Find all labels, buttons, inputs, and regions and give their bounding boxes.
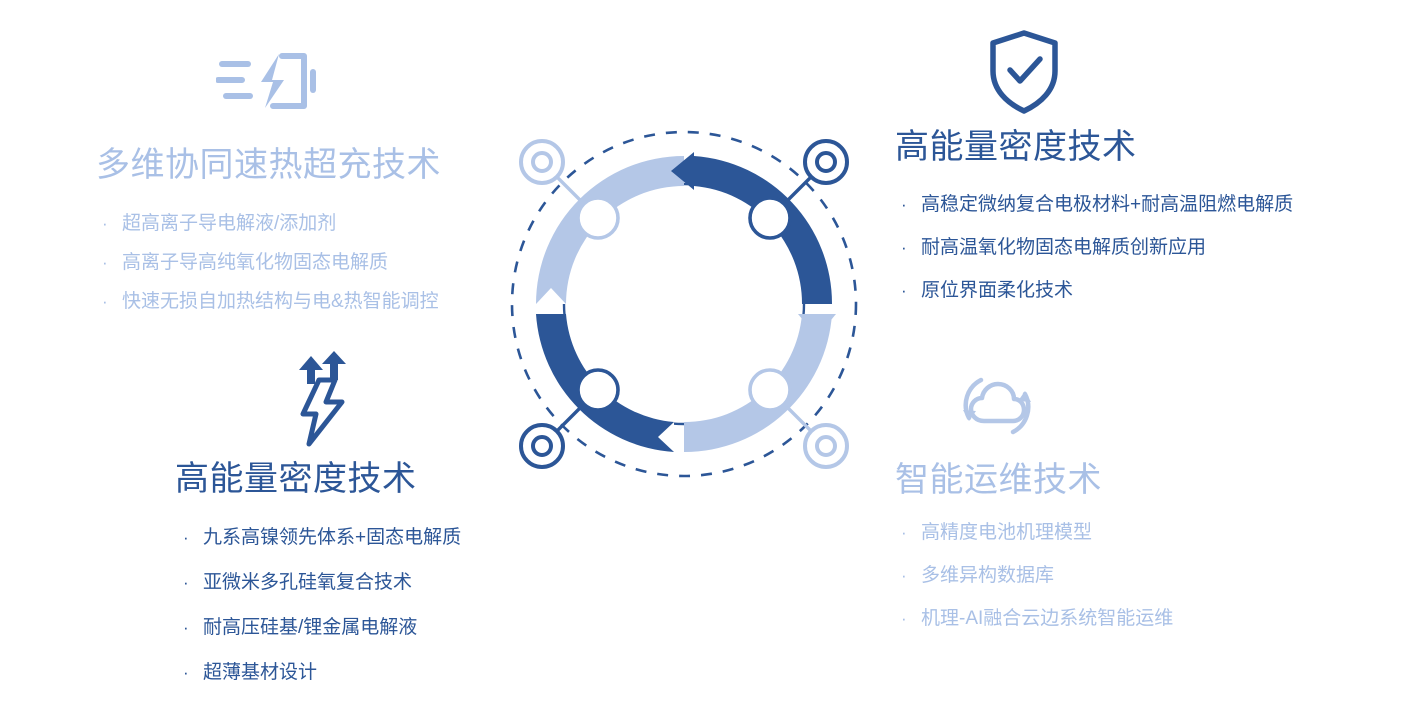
bullet-marker: ·: [901, 567, 921, 584]
up-arrows-lightning-icon: [285, 350, 365, 455]
cloud-refresh-icon: [955, 368, 1039, 451]
bullet-marker: ·: [102, 293, 122, 310]
quadrant-bullet-list: · 九系高镍领先体系+固态电解质 · 亚微米多孔硅氧复合技术 · 耐高压硅基/锂…: [183, 528, 461, 708]
node-marker-bottom-right[interactable]: [805, 425, 847, 467]
bullet-marker: ·: [102, 254, 122, 271]
bullet-text: 耐高温氧化物固态电解质创新应用: [921, 238, 1206, 257]
bullet-marker: ·: [183, 619, 203, 636]
bullet-marker: ·: [102, 215, 122, 232]
bullet-marker: ·: [183, 574, 203, 591]
list-item: · 高离子导高纯氧化物固态电解质: [102, 253, 439, 272]
list-item: · 超薄基材设计: [183, 663, 461, 682]
infographic-canvas: 多维协同速热超充技术 · 超高离子导电解液/添加剂 · 高离子导高纯氧化物固态电…: [0, 0, 1401, 725]
bullet-text: 机理-AI融合云边系统智能运维: [921, 609, 1173, 628]
arc-node-bottom-left[interactable]: [578, 370, 618, 410]
arc-node-top-left[interactable]: [578, 198, 618, 238]
quadrant-title: 多维协同速热超充技术: [96, 146, 441, 185]
bullet-text: 耐高压硅基/锂金属电解液: [203, 618, 417, 637]
list-item: · 超高离子导电解液/添加剂: [102, 214, 439, 233]
node-marker-top-right[interactable]: [805, 141, 847, 183]
arc-node-bottom-right[interactable]: [750, 370, 790, 410]
quadrant-bullet-list: · 高稳定微纳复合电极材料+耐高温阻燃电解质 · 耐高温氧化物固态电解质创新应用…: [901, 195, 1293, 324]
list-item: · 九系高镍领先体系+固态电解质: [183, 528, 461, 547]
quadrant-title: 高能量密度技术: [895, 128, 1137, 167]
bullet-text: 高稳定微纳复合电极材料+耐高温阻燃电解质: [921, 195, 1293, 214]
quadrant-title: 高能量密度技术: [175, 460, 417, 499]
list-item: · 快速无损自加热结构与电&热智能调控: [102, 292, 439, 311]
list-item: · 原位界面柔化技术: [901, 281, 1293, 300]
node-marker-bottom-left[interactable]: [521, 425, 563, 467]
bullet-marker: ·: [901, 282, 921, 299]
list-item: · 多维异构数据库: [901, 566, 1173, 585]
bullet-text: 高精度电池机理模型: [921, 523, 1092, 542]
quadrant-title: 智能运维技术: [895, 461, 1102, 500]
list-item: · 机理-AI融合云边系统智能运维: [901, 609, 1173, 628]
bullet-marker: ·: [183, 664, 203, 681]
bullet-text: 九系高镍领先体系+固态电解质: [203, 528, 461, 547]
fast-charging-battery-icon: [216, 42, 326, 127]
list-item: · 高稳定微纳复合电极材料+耐高温阻燃电解质: [901, 195, 1293, 214]
bullet-marker: ·: [901, 610, 921, 627]
bullet-text: 多维异构数据库: [921, 566, 1054, 585]
bullet-text: 原位界面柔化技术: [921, 281, 1073, 300]
bullet-marker: ·: [901, 239, 921, 256]
list-item: · 亚微米多孔硅氧复合技术: [183, 573, 461, 592]
bullet-text: 快速无损自加热结构与电&热智能调控: [122, 292, 439, 311]
bullet-text: 超薄基材设计: [203, 663, 317, 682]
list-item: · 耐高压硅基/锂金属电解液: [183, 618, 461, 637]
shield-check-icon: [985, 28, 1063, 121]
list-item: · 高精度电池机理模型: [901, 523, 1173, 542]
list-item: · 耐高温氧化物固态电解质创新应用: [901, 238, 1293, 257]
bullet-marker: ·: [901, 524, 921, 541]
bullet-text: 高离子导高纯氧化物固态电解质: [122, 253, 388, 272]
bullet-marker: ·: [901, 196, 921, 213]
cycle-diagram: [488, 108, 880, 500]
quadrant-bullet-list: · 超高离子导电解液/添加剂 · 高离子导高纯氧化物固态电解质 · 快速无损自加…: [102, 214, 439, 331]
arc-node-top-right[interactable]: [750, 198, 790, 238]
quadrant-bullet-list: · 高精度电池机理模型 · 多维异构数据库 · 机理-AI融合云边系统智能运维: [901, 523, 1173, 652]
node-marker-top-left[interactable]: [521, 141, 563, 183]
bullet-text: 超高离子导电解液/添加剂: [122, 214, 336, 233]
bullet-marker: ·: [183, 529, 203, 546]
bullet-text: 亚微米多孔硅氧复合技术: [203, 573, 412, 592]
